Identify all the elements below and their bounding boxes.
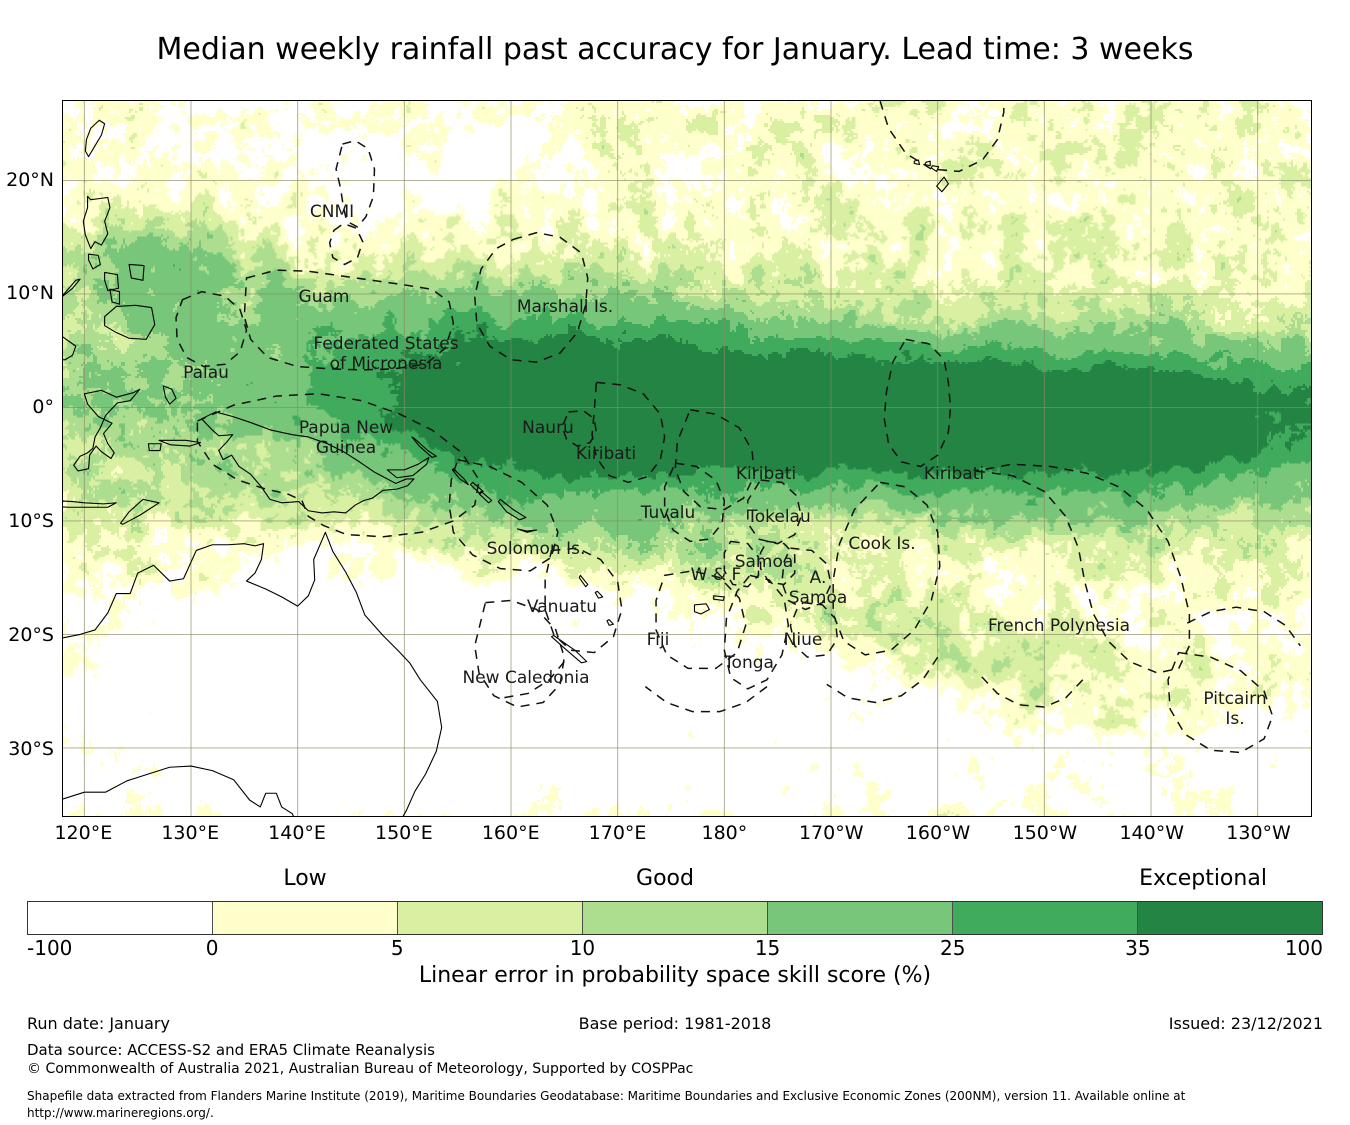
map-overlay (63, 101, 1311, 816)
y-tick-0: 20°N (54, 169, 102, 191)
colorbar-tick-3: 10 (570, 937, 595, 960)
colorbar-tick-7: 100 (1285, 937, 1323, 960)
x-tick-3: 150°E (375, 822, 433, 844)
y-tick-5: 30°S (54, 738, 100, 760)
eez-boundaries (176, 101, 1300, 752)
x-tick-4: 160°E (482, 822, 540, 844)
y-tick-3: 10°S (54, 510, 100, 532)
colorbar-segment-5 (953, 902, 1138, 934)
x-tick-10: 140°W (1119, 822, 1184, 844)
x-tick-9: 150°W (1013, 822, 1078, 844)
colorbar-tick-1: 0 (206, 937, 219, 960)
y-tick-4: 20°S (54, 624, 100, 646)
figure-title: Median weekly rainfall past accuracy for… (0, 32, 1350, 68)
y-tick-1: 10°N (54, 282, 102, 304)
colorbar-category-exceptional: Exceptional (1139, 866, 1267, 892)
colorbar-segment-2 (398, 902, 583, 934)
colorbar-tick-2: 5 (391, 937, 404, 960)
colorbar-label: Linear error in probability space skill … (0, 963, 1350, 989)
map-axes (62, 100, 1312, 817)
y-tick-2: 0° (54, 396, 76, 418)
x-tick-11: 130°W (1226, 822, 1291, 844)
x-tick-6: 180° (702, 822, 748, 844)
x-tick-2: 140°E (268, 822, 326, 844)
footer-copyright: © Commonwealth of Australia 2021, Austra… (27, 1060, 693, 1079)
colorbar-tick-4: 15 (755, 937, 780, 960)
colorbar-segment-3 (583, 902, 768, 934)
colorbar-segment-0 (28, 902, 213, 934)
colorbar-category-good: Good (636, 866, 694, 892)
x-tick-8: 160°W (906, 822, 971, 844)
colorbar-tick-6: 35 (1125, 937, 1150, 960)
colorbar-tick-0: -100 (27, 937, 72, 960)
colorbar-gradient (27, 901, 1323, 935)
footer-base-period: Base period: 1981-2018 (0, 1014, 1350, 1034)
colorbar-tick-5: 25 (940, 937, 965, 960)
x-tick-5: 170°E (589, 822, 647, 844)
x-tick-1: 130°E (161, 822, 219, 844)
footer-shapefile-note: Shapefile data extracted from Flanders M… (27, 1088, 1327, 1122)
coastlines (63, 120, 948, 816)
footer-data-source: Data source: ACCESS-S2 and ERA5 Climate … (27, 1040, 435, 1060)
colorbar-segment-6 (1138, 902, 1322, 934)
footer-issued: Issued: 23/12/2021 (1169, 1014, 1323, 1034)
x-tick-7: 170°W (799, 822, 864, 844)
colorbar-category-low: Low (283, 866, 326, 892)
colorbar-segment-1 (213, 902, 398, 934)
footer-row: Run date: January Base period: 1981-2018… (0, 1014, 1350, 1036)
figure-root: Median weekly rainfall past accuracy for… (0, 0, 1350, 1125)
x-tick-0: 120°E (54, 822, 112, 844)
colorbar (27, 901, 1323, 935)
graticule (63, 101, 1311, 816)
colorbar-segment-4 (768, 902, 953, 934)
